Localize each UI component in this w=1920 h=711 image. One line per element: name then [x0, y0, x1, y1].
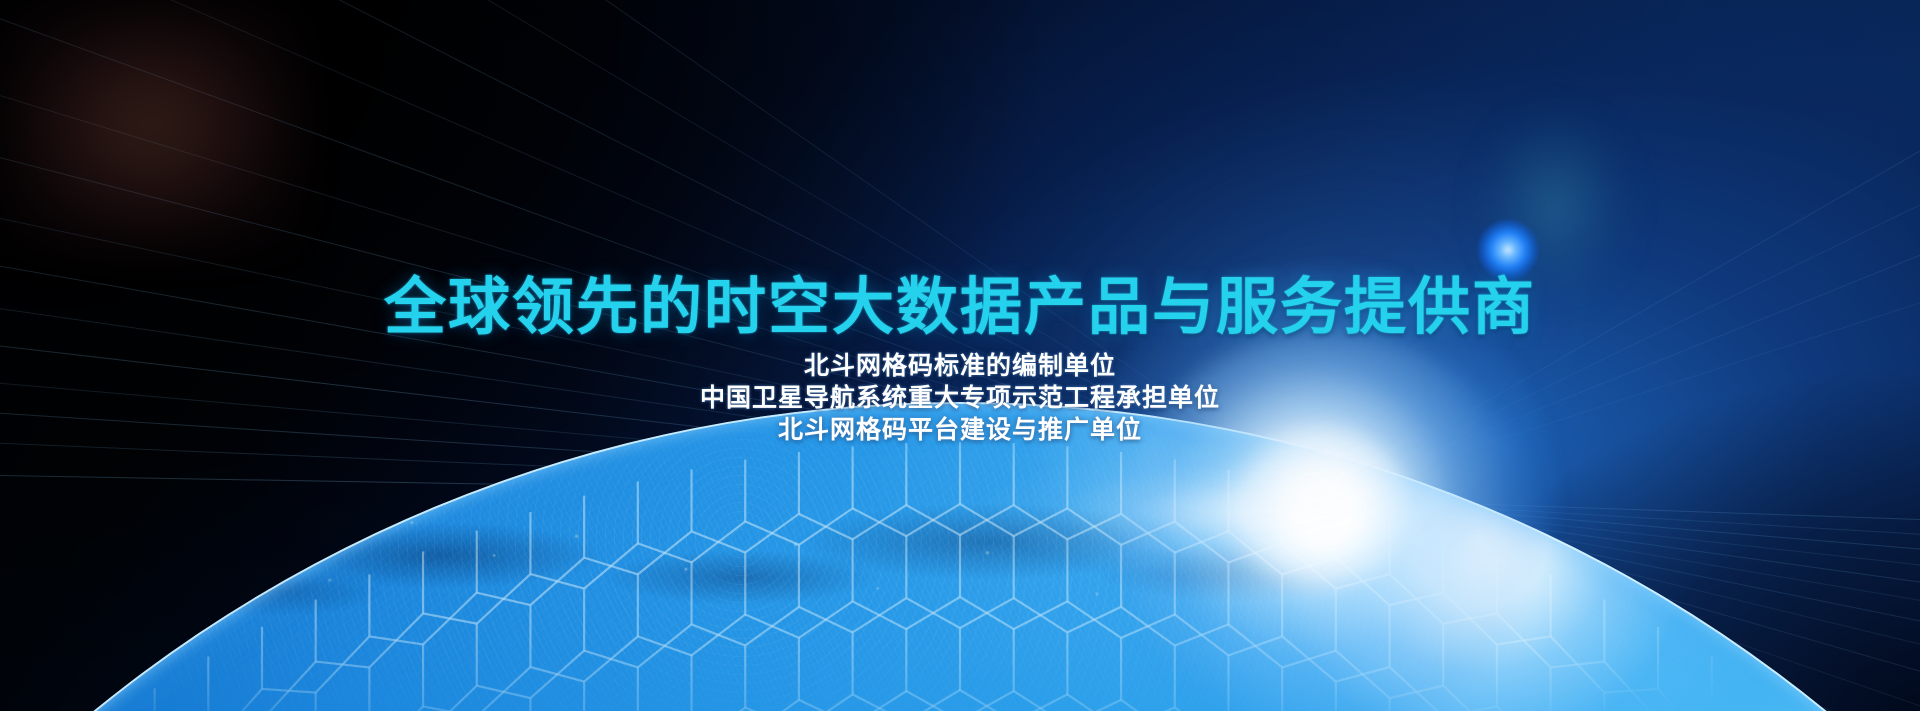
lens-flare-warm — [0, 0, 300, 250]
banner-subtitle-line-3: 北斗网格码平台建设与推广单位 — [0, 414, 1920, 446]
banner-subtitle-line-1: 北斗网格码标准的编制单位 — [0, 350, 1920, 382]
banner-headline: 全球领先的时空大数据产品与服务提供商 — [0, 256, 1920, 346]
banner-subtitle-list: 北斗网格码标准的编制单位 中国卫星导航系统重大专项示范工程承担单位 北斗网格码平… — [0, 350, 1920, 446]
banner-subtitle-line-2: 中国卫星导航系统重大专项示范工程承担单位 — [0, 382, 1920, 414]
hero-banner: 全球领先的时空大数据产品与服务提供商 北斗网格码标准的编制单位 中国卫星导航系统… — [0, 0, 1920, 711]
